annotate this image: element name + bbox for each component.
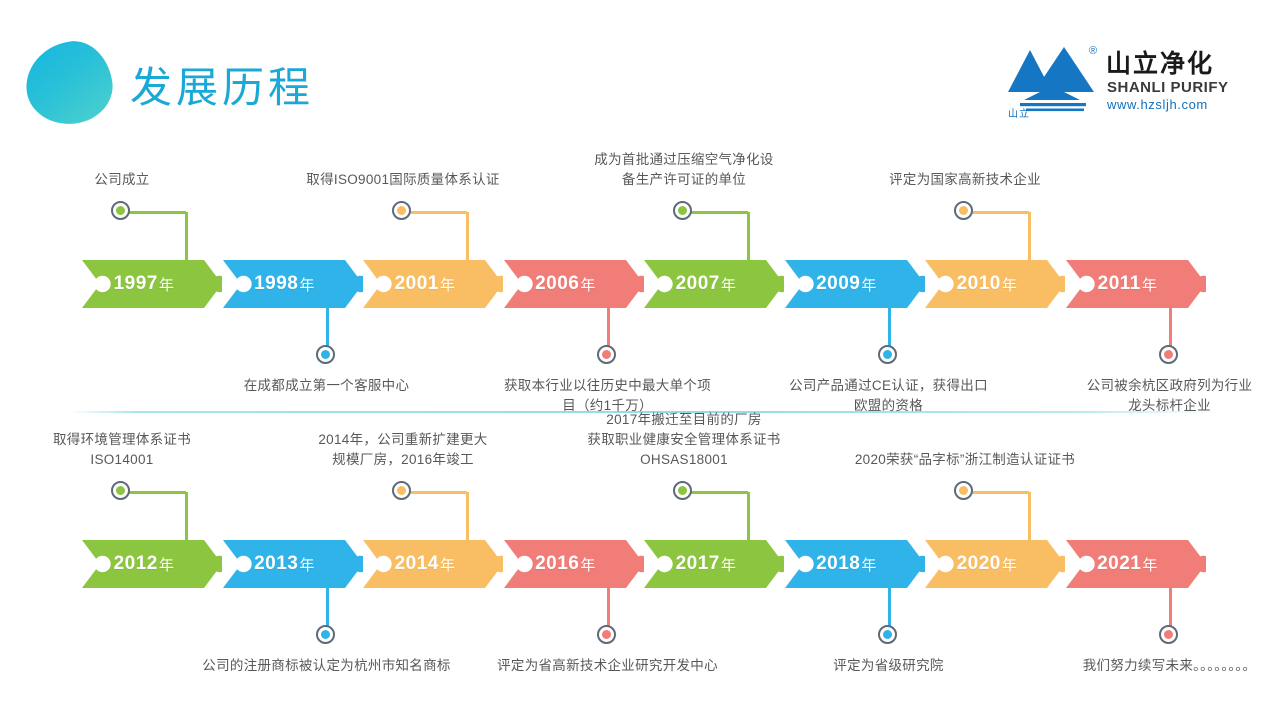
logo-company-name-cn: 山立净化 (1106, 50, 1214, 78)
timeline-row: 1997年1998年2001年2006年2007年2009年2010年2011年… (0, 150, 1280, 400)
timeline-caption-2021: 我们努力续写未来。。。。。。。。 (1025, 656, 1280, 676)
two-mountain-peaks-icon (1006, 44, 1098, 114)
logo-company-name-en: SHANLI PURIFY (1107, 79, 1229, 96)
connector-line (0, 150, 1280, 400)
timeline-caption-2011: 公司被余杭区政府列为行业 龙头标杆企业 (1025, 376, 1280, 416)
timeline-row: 2012年2013年2014年2016年2017年2018年2020年2021年… (0, 430, 1280, 680)
page-title: 发展历程 (130, 60, 314, 116)
logo-mark-label: 山立 (1008, 109, 1030, 120)
decorative-blob-shape (21, 36, 118, 129)
marker-dot-core (1164, 630, 1173, 639)
connector-line (0, 430, 1280, 680)
registered-trademark-icon: ® (1089, 46, 1097, 57)
timeline-marker-dot[interactable] (1159, 625, 1178, 644)
logo-website-url: www.hzsljh.com (1107, 97, 1208, 112)
timeline-marker-dot[interactable] (1159, 345, 1178, 364)
slide-header: 发展历程 ® 山立 山立净化 SHANLI PURIFY www.hzsljh.… (0, 0, 1280, 140)
slide-root: 发展历程 ® 山立 山立净化 SHANLI PURIFY www.hzsljh.… (0, 0, 1280, 720)
marker-dot-core (1164, 350, 1173, 359)
company-logo: ® 山立 山立净化 SHANLI PURIFY www.hzsljh.com (1006, 44, 1222, 122)
